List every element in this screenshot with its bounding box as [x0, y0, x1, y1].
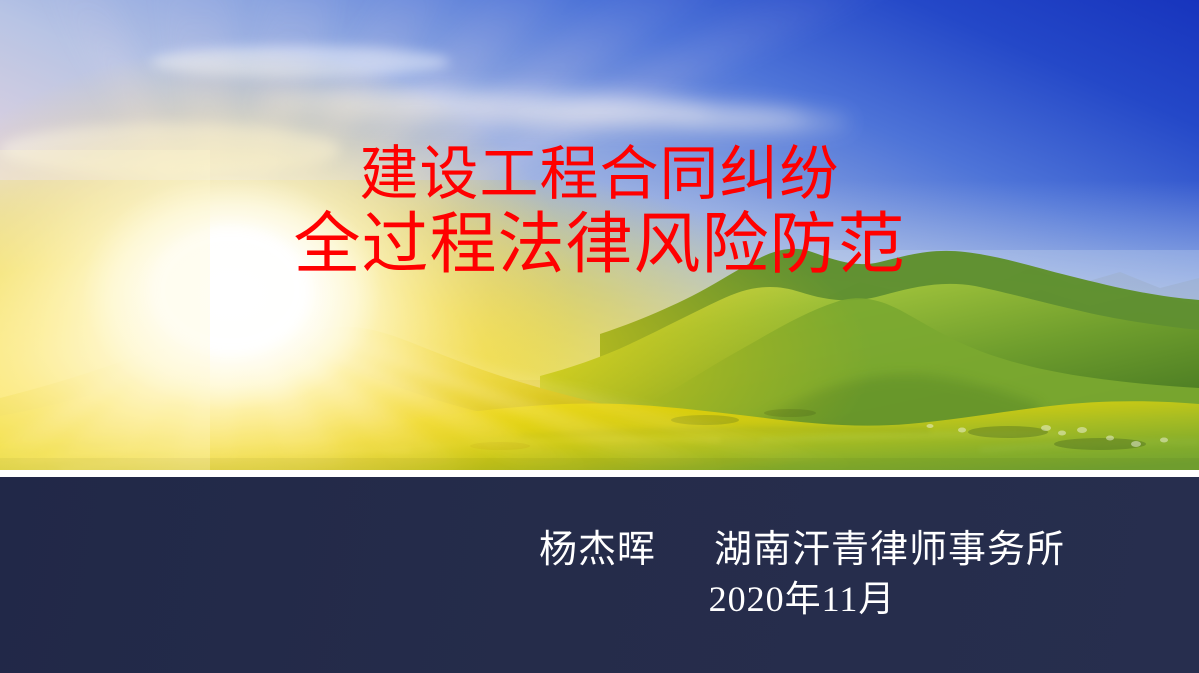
landscape-illustration — [0, 0, 1199, 470]
background-photo: 建设工程合同纠纷 全过程法律风险防范 — [0, 0, 1199, 470]
organization-name: 湖南汗青律师事务所 — [714, 529, 1065, 571]
photo-footer-separator — [0, 470, 1199, 477]
presenter-name: 杨杰晖 — [539, 529, 656, 571]
presenter-and-organization: 杨杰晖湖南汗青律师事务所 — [492, 525, 1112, 575]
footer-credits: 杨杰晖湖南汗青律师事务所 2020年11月 — [492, 525, 1112, 623]
presentation-date: 2020年11月 — [492, 575, 1112, 623]
footer-band: 杨杰晖湖南汗青律师事务所 2020年11月 — [0, 477, 1199, 673]
presentation-slide: 建设工程合同纠纷 全过程法律风险防范 杨杰晖湖南汗青律师事务所 2020年11月 — [0, 0, 1199, 673]
